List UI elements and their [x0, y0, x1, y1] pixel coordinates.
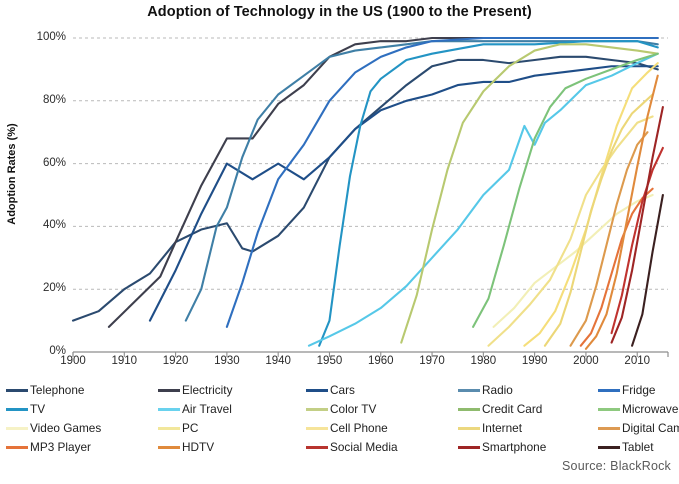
- x-tick-label: 1980: [455, 355, 511, 367]
- legend-swatch-icon: [458, 446, 480, 449]
- legend-item-tv[interactable]: TV: [6, 400, 45, 419]
- source-attribution: Source: BlackRock: [562, 459, 671, 473]
- x-tick-label: 2000: [558, 355, 614, 367]
- legend-label: Fridge: [622, 384, 655, 397]
- legend-item-radio[interactable]: Radio: [458, 381, 513, 400]
- legend-item-pc[interactable]: PC: [158, 419, 198, 438]
- legend-swatch-icon: [158, 427, 180, 430]
- legend-row: MP3 PlayerHDTVSocial MediaSmartphoneTabl…: [6, 438, 678, 457]
- legend-item-tablet[interactable]: Tablet: [598, 438, 653, 457]
- legend-label: Internet: [482, 422, 522, 435]
- legend-swatch-icon: [306, 427, 328, 430]
- x-tick-label: 1930: [199, 355, 255, 367]
- legend-swatch-icon: [6, 446, 28, 449]
- legend-swatch-icon: [6, 408, 28, 411]
- series-line: [632, 195, 663, 346]
- legend-item-mp3-player[interactable]: MP3 Player: [6, 438, 91, 457]
- legend-label: Tablet: [622, 441, 653, 454]
- legend-item-cell-phone[interactable]: Cell Phone: [306, 419, 388, 438]
- series-line: [586, 76, 658, 349]
- x-tick-label: 1970: [404, 355, 460, 367]
- series-line: [186, 41, 658, 320]
- series-line: [545, 95, 653, 346]
- legend-label: MP3 Player: [30, 441, 91, 454]
- legend-label: PC: [182, 422, 198, 435]
- x-tick-label: 1900: [45, 355, 101, 367]
- series-line: [150, 66, 658, 320]
- chart-figure: Adoption of Technology in the US (1900 t…: [0, 0, 679, 484]
- y-tick-label: 100%: [20, 31, 66, 43]
- legend-swatch-icon: [158, 446, 180, 449]
- legend-label: TV: [30, 403, 45, 416]
- series-line: [73, 57, 658, 321]
- x-tick-label: 2010: [609, 355, 665, 367]
- legend-label: Cell Phone: [330, 422, 388, 435]
- legend-label: Color TV: [330, 403, 376, 416]
- legend-row: TVAir TravelColor TVCredit CardMicrowave: [6, 400, 678, 419]
- legend-swatch-icon: [158, 408, 180, 411]
- x-tick-label: 1990: [507, 355, 563, 367]
- legend-item-electricity[interactable]: Electricity: [158, 381, 232, 400]
- series-line: [488, 117, 652, 346]
- legend-swatch-icon: [6, 427, 28, 430]
- legend-item-video-games[interactable]: Video Games: [6, 419, 101, 438]
- legend-item-microwave[interactable]: Microwave: [598, 400, 678, 419]
- legend-swatch-icon: [598, 408, 620, 411]
- chart-legend: TelephoneElectricityCarsRadioFridgeTVAir…: [6, 381, 678, 461]
- legend-item-hdtv[interactable]: HDTV: [158, 438, 214, 457]
- y-tick-label: 20%: [20, 282, 66, 294]
- series-line: [309, 54, 658, 346]
- legend-label: Video Games: [30, 422, 101, 435]
- legend-item-cars[interactable]: Cars: [306, 381, 355, 400]
- legend-item-fridge[interactable]: Fridge: [598, 381, 655, 400]
- legend-swatch-icon: [306, 389, 328, 392]
- legend-item-color-tv[interactable]: Color TV: [306, 400, 376, 419]
- legend-swatch-icon: [6, 389, 28, 392]
- legend-swatch-icon: [598, 389, 620, 392]
- legend-label: Credit Card: [482, 403, 542, 416]
- legend-label: Air Travel: [182, 403, 232, 416]
- legend-label: HDTV: [182, 441, 214, 454]
- legend-swatch-icon: [458, 408, 480, 411]
- legend-row: TelephoneElectricityCarsRadioFridge: [6, 381, 678, 400]
- legend-label: Microwave: [622, 403, 678, 416]
- y-tick-label: 40%: [20, 219, 66, 231]
- legend-item-smartphone[interactable]: Smartphone: [458, 438, 546, 457]
- x-tick-label: 1910: [96, 355, 152, 367]
- legend-item-air-travel[interactable]: Air Travel: [158, 400, 232, 419]
- legend-swatch-icon: [458, 389, 480, 392]
- legend-label: Cars: [330, 384, 355, 397]
- legend-label: Smartphone: [482, 441, 546, 454]
- legend-label: Electricity: [182, 384, 232, 397]
- legend-item-internet[interactable]: Internet: [458, 419, 522, 438]
- x-tick-label: 1950: [301, 355, 357, 367]
- legend-swatch-icon: [598, 446, 620, 449]
- legend-swatch-icon: [458, 427, 480, 430]
- legend-swatch-icon: [598, 427, 620, 430]
- legend-label: Digital Camera: [622, 422, 679, 435]
- y-tick-label: 60%: [20, 157, 66, 169]
- legend-item-digital-camera[interactable]: Digital Camera: [598, 419, 679, 438]
- series-line: [109, 38, 658, 327]
- legend-swatch-icon: [306, 446, 328, 449]
- legend-item-social-media[interactable]: Social Media: [306, 438, 398, 457]
- legend-item-telephone[interactable]: Telephone: [6, 381, 84, 400]
- legend-swatch-icon: [306, 408, 328, 411]
- x-tick-label: 1920: [148, 355, 204, 367]
- legend-label: Radio: [482, 384, 513, 397]
- legend-row: Video GamesPCCell PhoneInternetDigital C…: [6, 419, 678, 438]
- y-tick-label: 80%: [20, 94, 66, 106]
- legend-label: Social Media: [330, 441, 398, 454]
- legend-swatch-icon: [158, 389, 180, 392]
- x-tick-label: 1960: [353, 355, 409, 367]
- x-tick-label: 1940: [250, 355, 306, 367]
- legend-item-credit-card[interactable]: Credit Card: [458, 400, 542, 419]
- legend-label: Telephone: [30, 384, 84, 397]
